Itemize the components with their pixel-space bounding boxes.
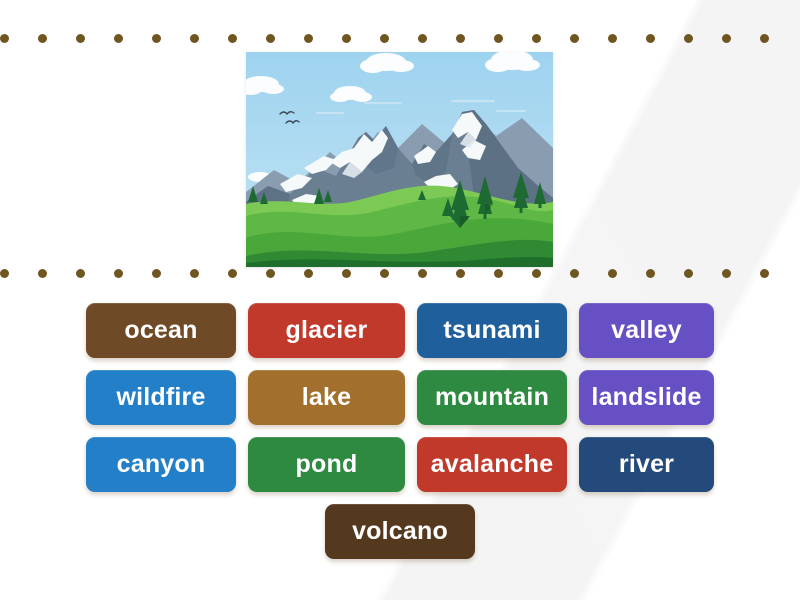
filmstrip-dot bbox=[722, 269, 731, 278]
filmstrip-dot bbox=[646, 34, 655, 43]
filmstrip-dot bbox=[608, 34, 617, 43]
filmstrip-dot bbox=[304, 269, 313, 278]
filmstrip-dot bbox=[152, 34, 161, 43]
filmstrip-dot bbox=[570, 34, 579, 43]
filmstrip-dot bbox=[266, 269, 275, 278]
word-tile-label: wildfire bbox=[116, 383, 205, 412]
word-tile-wildfire[interactable]: wildfire bbox=[86, 370, 236, 425]
filmstrip-dot bbox=[76, 269, 85, 278]
word-tile-row: wildfirelakemountainlandslide bbox=[70, 370, 730, 425]
word-tile-row: canyonpondavalancheriver bbox=[70, 437, 730, 492]
question-image bbox=[246, 52, 553, 267]
word-tile-label: canyon bbox=[117, 450, 206, 479]
filmstrip-dot bbox=[0, 269, 9, 278]
word-tile-row: volcano bbox=[70, 504, 730, 559]
filmstrip-dot bbox=[38, 34, 47, 43]
word-tile-river[interactable]: river bbox=[579, 437, 714, 492]
word-tile-glacier[interactable]: glacier bbox=[248, 303, 405, 358]
word-tile-label: river bbox=[619, 450, 674, 479]
word-tile-grid: oceanglaciertsunamivalleywildfirelakemou… bbox=[70, 303, 730, 571]
filmstrip-dot bbox=[342, 269, 351, 278]
filmstrip-dot bbox=[608, 269, 617, 278]
word-tile-label: valley bbox=[611, 316, 682, 345]
word-tile-label: mountain bbox=[435, 383, 549, 412]
filmstrip-dot bbox=[114, 34, 123, 43]
filmstrip-dot bbox=[380, 34, 389, 43]
filmstrip-rail-bottom bbox=[0, 268, 800, 278]
word-tile-label: lake bbox=[302, 383, 351, 412]
quiz-stage: oceanglaciertsunamivalleywildfirelakemou… bbox=[0, 0, 800, 600]
word-tile-avalanche[interactable]: avalanche bbox=[417, 437, 567, 492]
word-tile-volcano[interactable]: volcano bbox=[325, 504, 475, 559]
word-tile-label: landslide bbox=[591, 383, 701, 412]
filmstrip-dot bbox=[418, 269, 427, 278]
filmstrip-dot bbox=[722, 34, 731, 43]
filmstrip-dot bbox=[0, 34, 9, 43]
word-tile-pond[interactable]: pond bbox=[248, 437, 405, 492]
word-tile-lake[interactable]: lake bbox=[248, 370, 405, 425]
filmstrip-dot bbox=[304, 34, 313, 43]
mountain-landscape-icon bbox=[246, 52, 553, 267]
word-tile-label: tsunami bbox=[443, 316, 540, 345]
filmstrip-dot bbox=[684, 269, 693, 278]
filmstrip-dot bbox=[646, 269, 655, 278]
filmstrip-dot bbox=[228, 269, 237, 278]
word-tile-label: ocean bbox=[124, 316, 197, 345]
filmstrip-dot bbox=[190, 34, 199, 43]
filmstrip-dot bbox=[38, 269, 47, 278]
filmstrip-dot bbox=[494, 269, 503, 278]
filmstrip-dot bbox=[760, 34, 769, 43]
word-tile-label: pond bbox=[296, 450, 358, 479]
word-tile-mountain[interactable]: mountain bbox=[417, 370, 567, 425]
filmstrip-rail-top bbox=[0, 33, 800, 43]
word-tile-canyon[interactable]: canyon bbox=[86, 437, 236, 492]
filmstrip-dot bbox=[494, 34, 503, 43]
filmstrip-dot bbox=[570, 269, 579, 278]
word-tile-tsunami[interactable]: tsunami bbox=[417, 303, 567, 358]
filmstrip-dot bbox=[418, 34, 427, 43]
filmstrip-dot bbox=[190, 269, 199, 278]
word-tile-ocean[interactable]: ocean bbox=[86, 303, 236, 358]
word-tile-row: oceanglaciertsunamivalley bbox=[70, 303, 730, 358]
word-tile-landslide[interactable]: landslide bbox=[579, 370, 714, 425]
word-tile-label: avalanche bbox=[431, 450, 554, 479]
word-tile-label: glacier bbox=[285, 316, 367, 345]
filmstrip-dot bbox=[532, 34, 541, 43]
filmstrip-dot bbox=[76, 34, 85, 43]
filmstrip-dot bbox=[342, 34, 351, 43]
filmstrip-dot bbox=[380, 269, 389, 278]
filmstrip-dot bbox=[456, 34, 465, 43]
word-tile-label: volcano bbox=[352, 517, 448, 546]
word-tile-valley[interactable]: valley bbox=[579, 303, 714, 358]
filmstrip-dot bbox=[456, 269, 465, 278]
filmstrip-dot bbox=[760, 269, 769, 278]
filmstrip-dot bbox=[684, 34, 693, 43]
filmstrip-dot bbox=[532, 269, 541, 278]
filmstrip-dot bbox=[152, 269, 161, 278]
filmstrip-dot bbox=[114, 269, 123, 278]
filmstrip-dot bbox=[228, 34, 237, 43]
filmstrip-dot bbox=[266, 34, 275, 43]
